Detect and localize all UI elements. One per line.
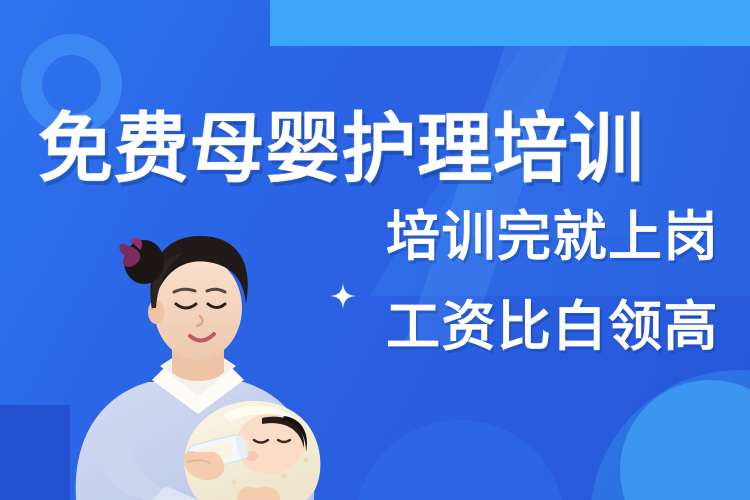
headline-text: 免费母婴护理培训 [38, 112, 645, 188]
mother-and-baby-photo [48, 200, 348, 500]
headline: 免费母婴护理培训 [38, 104, 722, 196]
promo-banner: 免费母婴护理培训 培训完就上岗 工资比白领高 [0, 0, 750, 500]
sparkle-icon [330, 283, 356, 309]
background-circle-right [620, 380, 750, 500]
background-circle-left [355, 420, 565, 500]
subheadline-line-1: 培训完就上岗 [386, 206, 722, 270]
subheadline-group: 培训完就上岗 工资比白领高 [386, 206, 722, 359]
subheadline-line-2: 工资比白领高 [386, 296, 722, 360]
